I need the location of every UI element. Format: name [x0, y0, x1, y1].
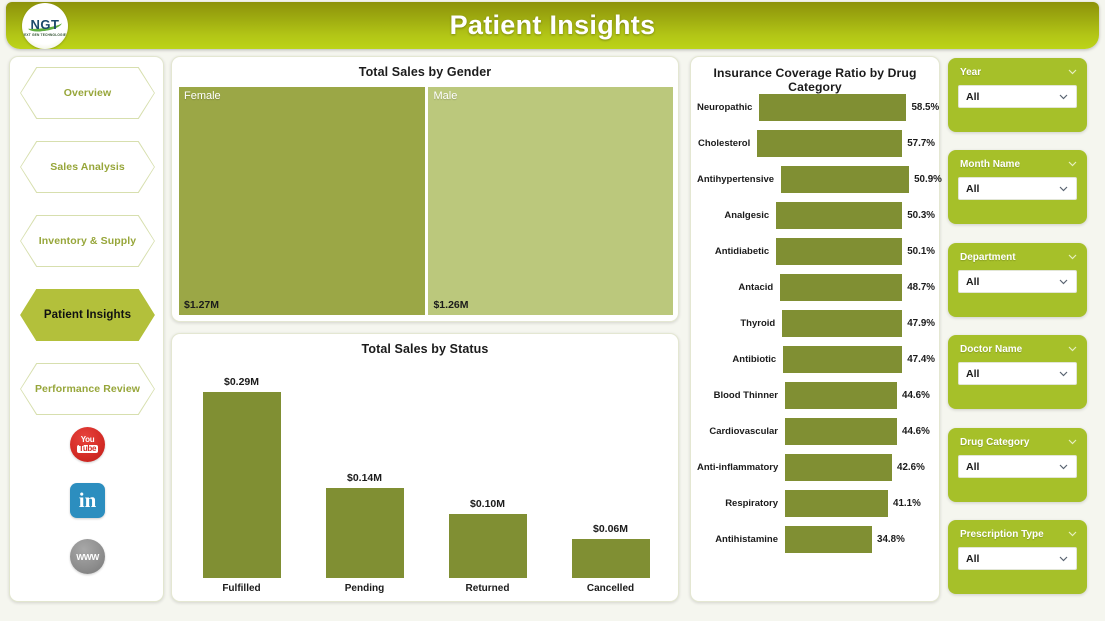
coverage-bar-chart: Neuropathic58.5%Cholesterol57.7%Antihype…: [691, 89, 941, 595]
sidebar-nav: OverviewSales AnalysisInventory & Supply…: [10, 67, 165, 437]
slicer-month-name: Month NameAll: [948, 150, 1087, 224]
column-group[interactable]: $0.14MPending: [326, 362, 404, 594]
coverage-category-label: Antidiabetic: [697, 246, 776, 257]
coverage-category-label: Antihistamine: [697, 534, 785, 545]
slicer-prescription-type: Prescription TypeAll: [948, 520, 1087, 594]
coverage-bar-wrap: 57.7%: [757, 130, 935, 157]
coverage-value-label: 48.7%: [907, 282, 935, 293]
status-column-chart: $0.29MFulfilled$0.14MPending$0.10MReturn…: [180, 362, 672, 594]
website-icon[interactable]: WWW: [70, 539, 105, 574]
chevron-down-icon[interactable]: [1067, 528, 1078, 539]
coverage-bar-row[interactable]: Antihypertensive50.9%: [697, 161, 935, 197]
coverage-bar-wrap: 42.6%: [785, 454, 935, 481]
slicer-header: Prescription Type: [948, 520, 1087, 540]
coverage-bar-row[interactable]: Anti-inflammatory42.6%: [697, 449, 935, 485]
treemap-tile[interactable]: Male$1.26M: [428, 87, 673, 315]
slicer-selected-value: All: [966, 553, 1058, 565]
column-bar[interactable]: [449, 514, 527, 578]
coverage-bar-row[interactable]: Respiratory41.1%: [697, 485, 935, 521]
coverage-bar-row[interactable]: Antihistamine34.8%: [697, 521, 935, 557]
sidebar-item-patient-insights[interactable]: Patient Insights: [20, 289, 155, 341]
coverage-value-label: 50.9%: [914, 174, 942, 185]
column-value-label: $0.14M: [347, 472, 382, 484]
coverage-value-label: 34.8%: [877, 534, 905, 545]
slicer-dropdown[interactable]: All: [958, 177, 1077, 200]
coverage-bar[interactable]: [783, 346, 902, 373]
logo-subtext: NEXT GEN TECHNOLOGIES: [22, 33, 68, 37]
coverage-bar-wrap: 44.6%: [785, 382, 935, 409]
total-sales-by-status-card: Total Sales by Status $0.29MFulfilled$0.…: [171, 333, 679, 602]
coverage-bar-row[interactable]: Neuropathic58.5%: [697, 89, 935, 125]
coverage-value-label: 47.9%: [907, 318, 935, 329]
sidebar: OverviewSales AnalysisInventory & Supply…: [9, 56, 164, 602]
slicer-selected-value: All: [966, 461, 1058, 473]
slicer-header: Department: [948, 243, 1087, 263]
coverage-bar[interactable]: [785, 454, 892, 481]
coverage-bar-row[interactable]: Antacid48.7%: [697, 269, 935, 305]
dashboard-page: Patient Insights NGT NEXT GEN TECHNOLOGI…: [0, 0, 1105, 621]
column-bar[interactable]: [203, 392, 281, 578]
treemap-tile-label: Female: [184, 90, 221, 102]
sidebar-item-sales-analysis[interactable]: Sales Analysis: [20, 141, 155, 193]
slicer-label: Doctor Name: [960, 344, 1022, 355]
coverage-bar-row[interactable]: Thyroid47.9%: [697, 305, 935, 341]
sidebar-item-performance-review[interactable]: Performance Review: [20, 363, 155, 415]
coverage-category-label: Antibiotic: [697, 354, 783, 365]
coverage-bar-wrap: 34.8%: [785, 526, 935, 553]
slicer-dropdown[interactable]: All: [958, 362, 1077, 385]
logo-text: NGT: [31, 17, 60, 32]
coverage-bar[interactable]: [757, 130, 902, 157]
total-sales-by-gender-card: Total Sales by Gender Female$1.27MMale$1…: [171, 56, 679, 322]
coverage-bar-wrap: 44.6%: [785, 418, 935, 445]
linkedin-icon[interactable]: in: [70, 483, 105, 518]
coverage-value-label: 57.7%: [907, 138, 935, 149]
slicer-department: DepartmentAll: [948, 243, 1087, 317]
coverage-value-label: 44.6%: [902, 390, 930, 401]
coverage-value-label: 47.4%: [907, 354, 935, 365]
slicer-label: Prescription Type: [960, 529, 1044, 540]
treemap-tile-value: $1.27M: [184, 299, 219, 311]
coverage-category-label: Thyroid: [697, 318, 782, 329]
chevron-down-icon[interactable]: [1058, 91, 1069, 102]
column-value-label: $0.29M: [224, 376, 259, 388]
youtube-line2: Tube: [77, 445, 98, 453]
page-header: Patient Insights NGT NEXT GEN TECHNOLOGI…: [6, 2, 1099, 49]
coverage-category-label: Analgesic: [697, 210, 776, 221]
coverage-value-label: 58.5%: [911, 102, 939, 113]
chevron-down-icon[interactable]: [1067, 343, 1078, 354]
column-value-label: $0.10M: [470, 498, 505, 510]
column-category-label: Pending: [345, 583, 384, 594]
coverage-bar[interactable]: [785, 382, 897, 409]
coverage-value-label: 44.6%: [902, 426, 930, 437]
slicer-selected-value: All: [966, 368, 1058, 380]
insurance-coverage-card: Insurance Coverage Ratio by Drug Categor…: [690, 56, 940, 602]
sidebar-item-overview[interactable]: Overview: [20, 67, 155, 119]
chevron-down-icon[interactable]: [1058, 553, 1069, 564]
column-value-label: $0.06M: [593, 523, 628, 535]
chevron-down-icon[interactable]: [1067, 436, 1078, 447]
column-bar[interactable]: [572, 539, 650, 578]
coverage-bar-row[interactable]: Blood Thinner44.6%: [697, 377, 935, 413]
slicer-drug-category: Drug CategoryAll: [948, 428, 1087, 502]
column-bar[interactable]: [326, 488, 404, 578]
sidebar-item-label: Sales Analysis: [50, 161, 125, 173]
column-category-label: Fulfilled: [222, 583, 260, 594]
chevron-down-icon[interactable]: [1058, 368, 1069, 379]
coverage-bar[interactable]: [776, 202, 902, 229]
youtube-line1: You: [81, 436, 95, 444]
chevron-down-icon[interactable]: [1058, 183, 1069, 194]
slicer-year: YearAll: [948, 58, 1087, 132]
chevron-down-icon[interactable]: [1058, 461, 1069, 472]
chevron-down-icon[interactable]: [1058, 276, 1069, 287]
chevron-down-icon[interactable]: [1067, 66, 1078, 77]
coverage-bar-row[interactable]: Antidiabetic50.1%: [697, 233, 935, 269]
coverage-value-label: 50.3%: [907, 210, 935, 221]
coverage-category-label: Blood Thinner: [697, 390, 785, 401]
coverage-bar-wrap: 50.1%: [776, 238, 935, 265]
sidebar-item-label: Performance Review: [35, 383, 140, 395]
coverage-bar-wrap: 41.1%: [785, 490, 935, 517]
coverage-category-label: Cardiovascular: [697, 426, 785, 437]
treemap-tile[interactable]: Female$1.27M: [179, 87, 425, 315]
coverage-bar-wrap: 50.3%: [776, 202, 935, 229]
coverage-bar[interactable]: [776, 238, 902, 265]
chevron-down-icon[interactable]: [1067, 251, 1078, 262]
column-group[interactable]: $0.29MFulfilled: [203, 362, 281, 594]
coverage-bar-row[interactable]: Analgesic50.3%: [697, 197, 935, 233]
column-category-label: Cancelled: [587, 583, 634, 594]
slicer-label: Department: [960, 252, 1016, 263]
coverage-category-label: Respiratory: [697, 498, 785, 509]
slicer-dropdown[interactable]: All: [958, 547, 1077, 570]
coverage-category-label: Antihypertensive: [697, 174, 781, 185]
sidebar-item-inventory-supply[interactable]: Inventory & Supply: [20, 215, 155, 267]
coverage-bar[interactable]: [782, 310, 902, 337]
treemap-title: Total Sales by Gender: [172, 57, 678, 79]
column-group[interactable]: $0.10MReturned: [449, 362, 527, 594]
sidebar-item-label: Inventory & Supply: [39, 235, 136, 247]
coverage-category-label: Neuropathic: [697, 102, 759, 113]
slicer-selected-value: All: [966, 183, 1058, 195]
coverage-bar-wrap: 58.5%: [759, 94, 939, 121]
coverage-bar-wrap: 47.9%: [782, 310, 935, 337]
gender-treemap: Female$1.27MMale$1.26M: [179, 87, 673, 315]
ngt-logo[interactable]: NGT NEXT GEN TECHNOLOGIES: [22, 3, 68, 49]
slicer-header: Year: [948, 58, 1087, 78]
coverage-bar-wrap: 48.7%: [780, 274, 935, 301]
slicer-header: Month Name: [948, 150, 1087, 170]
sidebar-item-label: Patient Insights: [44, 309, 131, 321]
social-links: YouTubeinWWW: [10, 427, 165, 574]
treemap-tile-value: $1.26M: [433, 299, 468, 311]
treemap-tile-label: Male: [433, 90, 457, 102]
coverage-bar-wrap: 47.4%: [783, 346, 935, 373]
slicer-dropdown[interactable]: All: [958, 455, 1077, 478]
coverage-bar[interactable]: [785, 526, 872, 553]
coverage-value-label: 41.1%: [893, 498, 921, 509]
slicer-header: Drug Category: [948, 428, 1087, 448]
coverage-bar-wrap: 50.9%: [781, 166, 942, 193]
coverage-bar[interactable]: [781, 166, 909, 193]
coverage-bar-row[interactable]: Cardiovascular44.6%: [697, 413, 935, 449]
coverage-category-label: Anti-inflammatory: [697, 462, 785, 473]
slicer-selected-value: All: [966, 91, 1058, 103]
sidebar-item-label: Overview: [64, 87, 112, 99]
slicer-dropdown[interactable]: All: [958, 85, 1077, 108]
chevron-down-icon[interactable]: [1067, 158, 1078, 169]
coverage-value-label: 50.1%: [907, 246, 935, 257]
slicer-selected-value: All: [966, 276, 1058, 288]
status-chart-title: Total Sales by Status: [172, 334, 678, 356]
coverage-bar-row[interactable]: Antibiotic47.4%: [697, 341, 935, 377]
slicer-doctor-name: Doctor NameAll: [948, 335, 1087, 409]
coverage-value-label: 42.6%: [897, 462, 925, 473]
coverage-category-label: Antacid: [697, 282, 780, 293]
slicer-label: Month Name: [960, 159, 1020, 170]
coverage-bar-row[interactable]: Cholesterol57.7%: [697, 125, 935, 161]
page-title: Patient Insights: [6, 2, 1099, 49]
slicer-dropdown[interactable]: All: [958, 270, 1077, 293]
column-category-label: Returned: [466, 583, 510, 594]
coverage-category-label: Cholesterol: [697, 138, 757, 149]
column-group[interactable]: $0.06MCancelled: [572, 362, 650, 594]
slicer-label: Drug Category: [960, 437, 1029, 448]
coverage-bar[interactable]: [785, 418, 897, 445]
coverage-bar[interactable]: [759, 94, 906, 121]
coverage-bar[interactable]: [785, 490, 888, 517]
slicer-header: Doctor Name: [948, 335, 1087, 355]
slicer-label: Year: [960, 67, 981, 78]
coverage-bar[interactable]: [780, 274, 902, 301]
youtube-icon[interactable]: YouTube: [70, 427, 105, 462]
